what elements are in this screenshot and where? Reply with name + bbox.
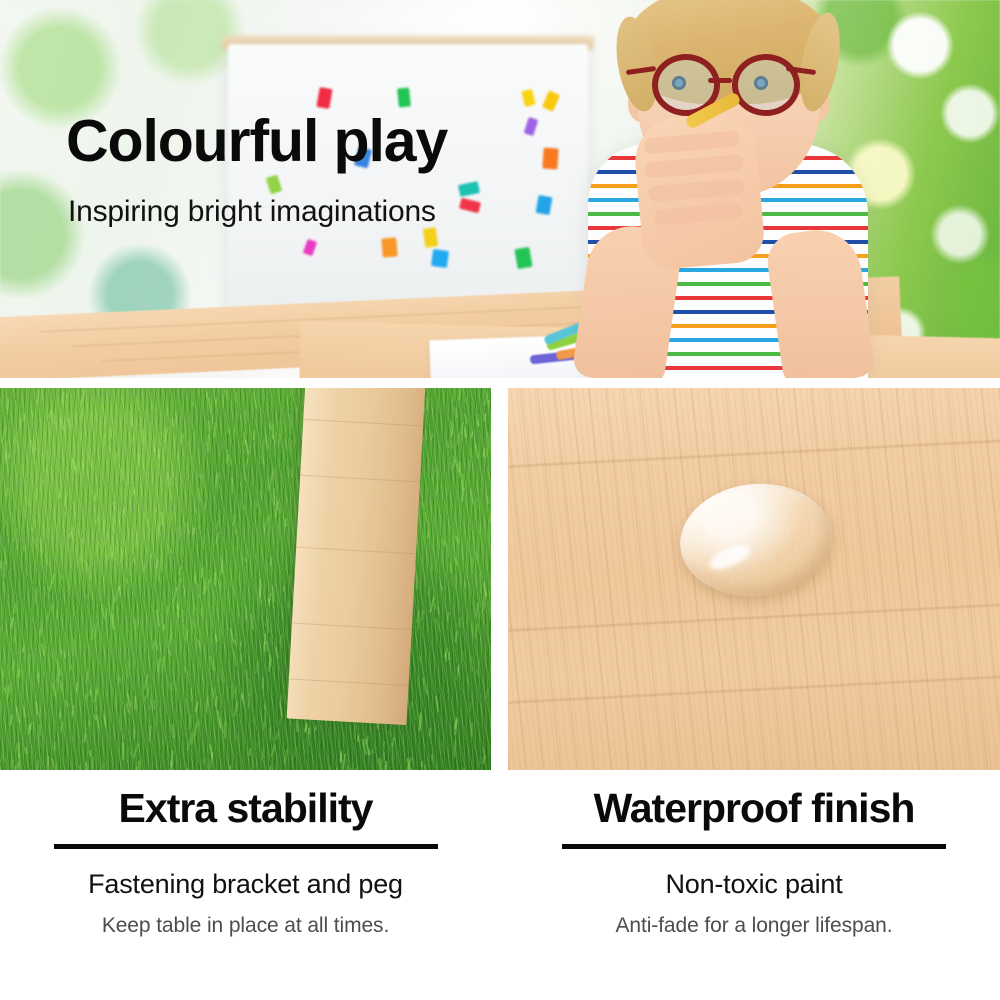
grass-blade	[252, 431, 255, 440]
confetti-magnet	[514, 247, 532, 269]
feature-title: Extra stability	[0, 786, 491, 830]
grass-blade	[415, 575, 418, 590]
grass-blade	[67, 573, 70, 590]
grass-blade	[279, 508, 281, 514]
grass-blade	[14, 766, 16, 770]
feature-title: Waterproof finish	[508, 786, 1000, 830]
confetti-magnet	[431, 249, 449, 268]
grass-blade	[479, 524, 482, 533]
confetti-magnet	[381, 237, 398, 257]
grass-blade	[228, 765, 231, 770]
grass-blade	[126, 578, 128, 584]
table-leg	[287, 388, 426, 725]
grass-blade	[222, 677, 224, 683]
confetti-magnet	[397, 87, 411, 107]
grass-blade	[357, 735, 359, 742]
grass-blade	[295, 720, 298, 733]
whiteboard	[228, 44, 588, 326]
confetti-magnet	[423, 227, 439, 248]
feature-image-waterproof-finish	[508, 388, 1000, 770]
feature-subtitle: Non-toxic paint	[508, 869, 1000, 900]
grass-blade	[262, 677, 264, 689]
grass-blade	[181, 572, 184, 588]
child-subject	[560, 0, 890, 378]
grass-blade	[275, 497, 278, 511]
product-feature-image: Colourful play Inspiring bright imaginat…	[0, 0, 1000, 1000]
grass-blade	[455, 573, 457, 587]
feature-subtitle: Fastening bracket and peg	[0, 869, 491, 900]
grass-blade	[199, 608, 201, 617]
grass-blade	[463, 767, 465, 770]
grass-blade	[471, 655, 473, 672]
eyeglasses-bridge	[708, 78, 732, 83]
grass-blade	[22, 413, 24, 422]
grass-blade	[354, 725, 356, 739]
grass-blade	[448, 563, 451, 573]
grass-blade	[40, 538, 43, 552]
grass-blade	[46, 613, 48, 620]
grass-blade	[13, 546, 16, 560]
grass-blade	[488, 400, 490, 405]
hero-subtitle: Inspiring bright imaginations	[68, 195, 436, 228]
grass-blade	[340, 751, 342, 763]
grass-blade	[227, 425, 230, 434]
grass-blade	[191, 732, 193, 745]
grass-blade	[155, 437, 157, 445]
grass-blade	[137, 551, 139, 560]
grass-blade	[137, 455, 140, 462]
caption-divider-rule	[562, 844, 946, 849]
grass-blade	[335, 768, 338, 770]
grass-blade	[88, 689, 91, 696]
grass-blade	[285, 497, 288, 503]
feature-image-extra-stability	[0, 388, 491, 770]
grass-blade	[54, 742, 56, 751]
grass-blade	[94, 705, 97, 711]
grass-blade	[168, 648, 171, 655]
grass-blade	[75, 464, 78, 473]
grass-blade	[111, 550, 114, 558]
grass-blade	[123, 732, 125, 740]
grass-blade	[448, 651, 450, 660]
grass-blade	[60, 433, 63, 442]
grass-blade	[296, 406, 298, 413]
feature-note: Anti-fade for a longer lifespan.	[508, 914, 1000, 938]
grass-blade	[235, 392, 237, 402]
grass-blade	[182, 624, 185, 639]
grass-blade	[255, 742, 258, 749]
grass-blade	[472, 557, 474, 566]
grass-blade	[124, 708, 127, 719]
grass-blade	[134, 532, 137, 548]
grass-blade	[141, 443, 144, 458]
grass-blade	[190, 688, 192, 702]
grass-blade	[222, 395, 224, 406]
grass-blade	[157, 449, 160, 459]
grass-blade	[285, 518, 287, 528]
caption-extra-stability: Extra stability Fastening bracket and pe…	[0, 786, 491, 938]
grass-blade	[478, 413, 480, 425]
grass-blade	[281, 586, 284, 592]
grass-blade	[133, 728, 135, 739]
grass-blade	[206, 444, 208, 453]
grass-blade	[157, 522, 160, 534]
confetti-magnet	[542, 148, 558, 170]
grass-blade	[207, 420, 210, 433]
caption-waterproof-finish: Waterproof finish Non-toxic paint Anti-f…	[508, 786, 1000, 938]
grass-blade	[315, 726, 317, 731]
grass-blade	[26, 565, 28, 577]
grass-blade	[76, 441, 79, 450]
grass-blade	[99, 587, 102, 602]
grass-blade	[466, 677, 469, 686]
grass-blade	[278, 519, 280, 531]
feature-note: Keep table in place at all times.	[0, 914, 491, 938]
grass-blade	[274, 465, 276, 483]
grass-blade	[287, 601, 290, 609]
grass-blade	[284, 692, 286, 705]
grass-blade	[137, 760, 140, 770]
grass-blade	[87, 720, 89, 727]
grass-blade	[93, 445, 95, 455]
hero-image-panel: Colourful play Inspiring bright imaginat…	[0, 0, 1000, 378]
grass-blade	[83, 734, 86, 742]
grass-blade	[44, 450, 46, 461]
grass-blade	[186, 767, 189, 770]
hero-title: Colourful play	[66, 112, 447, 171]
clasped-hands	[632, 111, 767, 271]
grass-blade	[159, 555, 162, 572]
grass-blade	[71, 638, 73, 656]
grass-blade	[445, 652, 448, 662]
grass-blade	[198, 719, 200, 726]
grass-blade	[28, 653, 31, 662]
caption-divider-rule	[54, 844, 438, 849]
grass-blade	[177, 452, 179, 462]
grass-blade	[156, 643, 159, 651]
grass-blade	[118, 676, 121, 684]
grass-blade	[109, 736, 111, 741]
grass-blade	[486, 432, 489, 447]
eyeglasses-right-lens	[732, 54, 800, 116]
grass-blade	[102, 520, 105, 535]
